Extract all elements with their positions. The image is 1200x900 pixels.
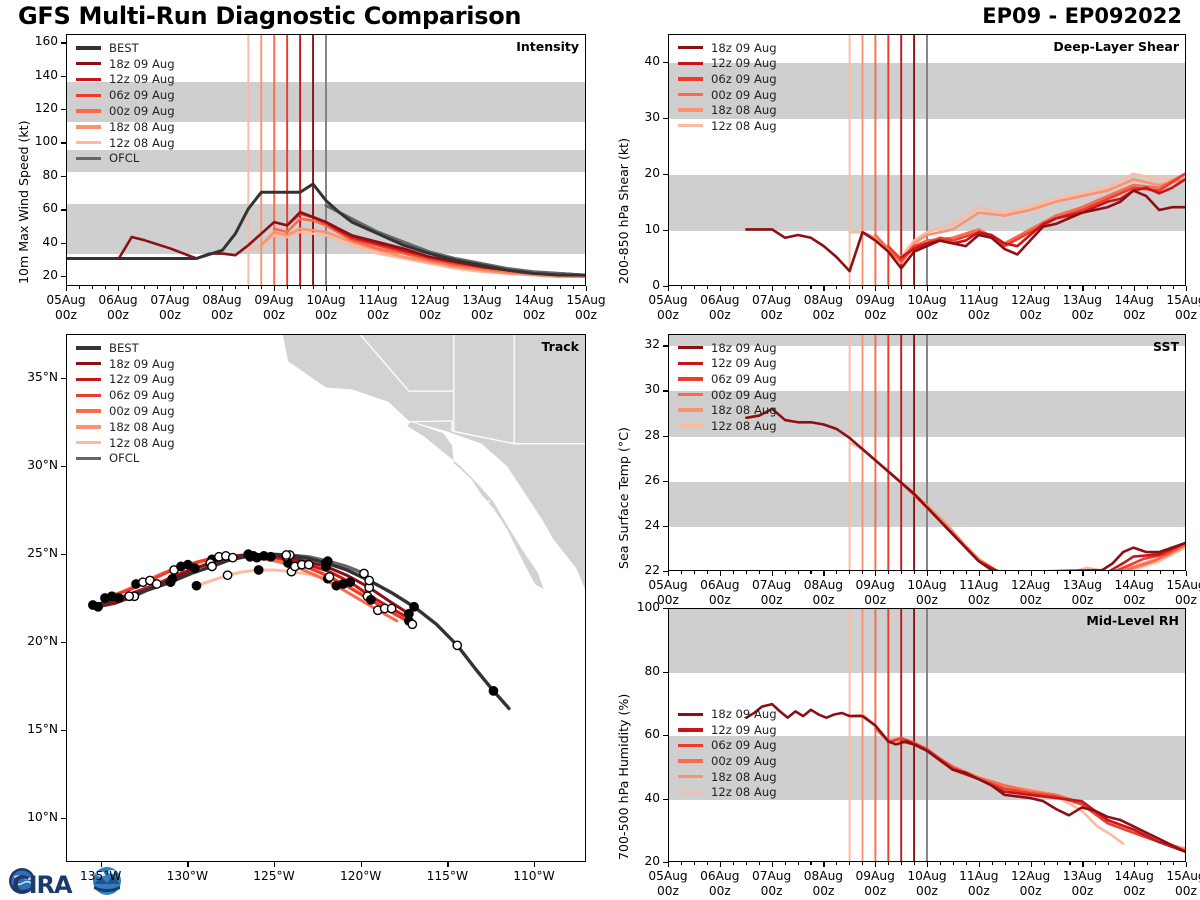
x-tick-mark: [927, 571, 928, 576]
x-tick-minor: [940, 571, 941, 574]
y-tick-label: 25°N: [8, 546, 58, 560]
svg-text:CIRA: CIRA: [12, 871, 73, 898]
legend-item-run_18z08[interactable]: 18z 08 Aug: [678, 769, 777, 785]
x-tick-minor: [798, 286, 799, 289]
legend-swatch-icon: [678, 46, 703, 49]
x-tick-minor: [849, 571, 850, 574]
y-tick-label: 20: [14, 268, 58, 282]
y-tick-mark: [663, 174, 668, 175]
x-tick-mark: [170, 286, 171, 291]
x-tick-minor: [1005, 286, 1006, 289]
legend-item-run_00z09[interactable]: 00z 09 Aug: [76, 403, 175, 419]
x-tick-minor: [901, 286, 902, 289]
x-tick-minor: [261, 286, 262, 289]
legend-item-best[interactable]: BEST: [76, 40, 175, 56]
intensity-legend: BEST18z 09 Aug12z 09 Aug06z 09 Aug00z 09…: [76, 40, 175, 166]
legend-swatch-icon: [76, 141, 101, 144]
track-marker-00z: [367, 596, 375, 604]
legend-item-label: 18z 09 Aug: [711, 707, 777, 721]
x-tick-minor: [681, 286, 682, 289]
x-tick-mark: [361, 862, 362, 867]
x-tick-hour: 00z: [1151, 593, 1200, 608]
legend-item-label: OFCL: [109, 451, 139, 465]
legend-item-run_18z09[interactable]: 18z 09 Aug: [76, 356, 175, 372]
x-tick-minor: [888, 286, 889, 289]
x-tick-minor: [966, 286, 967, 289]
y-tick-label: 15°N: [8, 722, 58, 736]
x-tick-minor: [940, 286, 941, 289]
x-tick-minor: [1005, 862, 1006, 865]
legend-swatch-icon: [76, 46, 101, 49]
legend-item-run_18z09[interactable]: 18z 09 Aug: [76, 56, 175, 72]
legend-item-run_06z09[interactable]: 06z 09 Aug: [678, 71, 777, 87]
legend-item-run_12z09[interactable]: 12z 09 Aug: [76, 372, 175, 388]
y-tick-label: 32: [616, 337, 660, 351]
x-tick-minor: [209, 286, 210, 289]
legend-item-label: 06z 09 Aug: [711, 738, 777, 752]
rh-legend: 18z 09 Aug12z 09 Aug06z 09 Aug00z 09 Aug…: [678, 706, 777, 800]
legend-swatch-icon: [76, 457, 101, 460]
y-tick-label: 100: [14, 134, 58, 148]
legend-item-run_12z08[interactable]: 12z 08 Aug: [678, 418, 777, 434]
legend-swatch-icon: [76, 378, 101, 381]
legend-item-run_06z09[interactable]: 06z 09 Aug: [76, 387, 175, 403]
x-tick-date: 15Aug: [1151, 293, 1200, 308]
x-tick-minor: [1160, 571, 1161, 574]
x-tick-date: 15Aug: [551, 293, 621, 308]
x-tick-minor: [759, 571, 760, 574]
y-tick-mark: [663, 799, 668, 800]
legend-item-label: 18z 09 Aug: [711, 341, 777, 355]
y-tick-mark: [663, 672, 668, 673]
x-tick-minor: [862, 571, 863, 574]
legend-item-label: 00z 09 Aug: [711, 754, 777, 768]
legend-item-run_12z08[interactable]: 12z 08 Aug: [76, 435, 175, 451]
x-tick-minor: [1095, 571, 1096, 574]
legend-swatch-icon: [678, 759, 703, 762]
legend-swatch-icon: [678, 728, 703, 731]
x-tick-mark: [668, 286, 669, 291]
y-tick-mark: [61, 730, 66, 731]
series-line-18z-09-aug: [746, 704, 1185, 851]
series-line-00z-09-aug: [274, 219, 585, 277]
legend-item-run_00z09[interactable]: 00z 09 Aug: [678, 87, 777, 103]
panel-rh[interactable]: Mid-Level RH 18z 09 Aug12z 09 Aug06z 09 …: [668, 608, 1186, 862]
track-marker-12z: [453, 641, 461, 649]
x-tick-minor: [681, 862, 682, 865]
y-tick-mark: [61, 466, 66, 467]
x-tick-minor: [352, 286, 353, 289]
y-tick-mark: [61, 76, 66, 77]
legend-item-run_06z09[interactable]: 06z 09 Aug: [678, 738, 777, 754]
legend-item-run_12z09[interactable]: 12z 09 Aug: [76, 72, 175, 88]
shear-legend: 18z 09 Aug12z 09 Aug06z 09 Aug00z 09 Aug…: [678, 40, 777, 134]
x-tick-minor: [1173, 286, 1174, 289]
x-tick-minor: [508, 286, 509, 289]
track-marker-00z: [166, 578, 174, 586]
y-tick-label: 40: [616, 54, 660, 68]
panel-track[interactable]: Track BEST18z 09 Aug12z 09 Aug06z 09 Aug…: [66, 334, 586, 862]
track-marker-12z: [325, 573, 333, 581]
legend-item-label: 18z 09 Aug: [711, 41, 777, 55]
x-tick-minor: [914, 571, 915, 574]
x-tick-minor: [573, 286, 574, 289]
y-tick-label: 10°N: [8, 810, 58, 824]
x-tick-minor: [785, 571, 786, 574]
x-tick-minor: [836, 571, 837, 574]
x-tick-minor: [1108, 286, 1109, 289]
x-tick-minor: [707, 862, 708, 865]
track-title: Track: [542, 339, 579, 354]
legend-item-run_06z09[interactable]: 06z 09 Aug: [76, 87, 175, 103]
shear-title: Deep-Layer Shear: [1053, 39, 1179, 54]
x-tick-minor: [694, 286, 695, 289]
series-line-18z-08-aug: [863, 449, 1186, 570]
legend-swatch-icon: [678, 408, 703, 411]
x-tick-minor: [1147, 571, 1148, 574]
series-line-18z-09-aug: [746, 191, 1185, 272]
x-tick-minor: [733, 571, 734, 574]
track-marker-00z: [267, 553, 275, 561]
x-tick-minor: [992, 862, 993, 865]
track-marker-00z: [489, 687, 497, 695]
y-tick-mark: [61, 209, 66, 210]
x-tick-mark: [979, 571, 980, 576]
x-tick-mark: [1082, 571, 1083, 576]
track-marker-00z: [322, 559, 330, 567]
y-tick-label: 20°N: [8, 634, 58, 648]
track-marker-12z: [305, 561, 313, 569]
x-tick-label: 125°W: [239, 869, 309, 884]
x-tick-minor: [914, 286, 915, 289]
x-tick-minor: [391, 286, 392, 289]
x-tick-minor: [248, 286, 249, 289]
y-tick-mark: [61, 642, 66, 643]
legend-item-run_18z08[interactable]: 18z 08 Aug: [678, 102, 777, 118]
y-tick-mark: [663, 230, 668, 231]
x-tick-mark: [534, 286, 535, 291]
legend-item-label: 12z 08 Aug: [109, 436, 175, 450]
legend-item-run_12z08[interactable]: 12z 08 Aug: [678, 118, 777, 134]
y-tick-label: 10: [616, 222, 660, 236]
y-tick-label: 20: [616, 854, 660, 868]
x-tick-minor: [888, 571, 889, 574]
x-tick-minor: [365, 286, 366, 289]
track-marker-12z: [408, 620, 416, 628]
x-tick-mark: [1186, 286, 1187, 291]
legend-swatch-icon: [678, 108, 703, 111]
x-tick-mark: [875, 862, 876, 867]
legend-swatch-icon: [76, 346, 101, 349]
y-tick-mark: [663, 608, 668, 609]
x-tick-minor: [443, 286, 444, 289]
legend-swatch-icon: [678, 93, 703, 96]
x-tick-minor: [1147, 862, 1148, 865]
sst-ylabel: Sea Surface Temp (°C): [616, 427, 631, 569]
x-tick-mark: [1031, 286, 1032, 291]
x-tick-mark: [668, 862, 669, 867]
legend-item-label: 12z 08 Aug: [711, 119, 777, 133]
legend-item-run_00z09[interactable]: 00z 09 Aug: [678, 753, 777, 769]
legend-item-run_12z09[interactable]: 12z 09 Aug: [678, 56, 777, 72]
x-tick-minor: [1095, 286, 1096, 289]
y-tick-label: 140: [14, 68, 58, 82]
x-tick-minor: [1173, 571, 1174, 574]
y-tick-label: 160: [14, 34, 58, 48]
y-tick-label: 100: [616, 600, 660, 614]
legend-item-run_18z08[interactable]: 18z 08 Aug: [76, 119, 175, 135]
y-tick-label: 35°N: [8, 370, 58, 384]
x-tick-minor: [1057, 286, 1058, 289]
x-tick-mark: [720, 571, 721, 576]
x-tick-date: 15Aug: [1151, 578, 1200, 593]
track-marker-00z: [192, 582, 200, 590]
legend-item-label: 12z 09 Aug: [711, 356, 777, 370]
x-tick-mark: [378, 286, 379, 291]
legend-item-label: BEST: [109, 341, 139, 355]
legend-item-label: 18z 08 Aug: [711, 103, 777, 117]
x-tick-minor: [746, 286, 747, 289]
y-tick-mark: [663, 390, 668, 391]
x-tick-minor: [79, 286, 80, 289]
x-tick-minor: [1044, 571, 1045, 574]
panel-intensity[interactable]: Intensity BEST18z 09 Aug12z 09 Aug06z 09…: [66, 34, 586, 286]
x-tick-label: 15Aug00z: [1151, 578, 1200, 608]
x-tick-label: 110°W: [499, 869, 569, 884]
x-tick-minor: [759, 862, 760, 865]
x-tick-minor: [1121, 286, 1122, 289]
x-tick-minor: [1069, 862, 1070, 865]
legend-item-run_12z08[interactable]: 12z 08 Aug: [678, 784, 777, 800]
x-tick-minor: [810, 862, 811, 865]
x-tick-minor: [992, 286, 993, 289]
x-tick-minor: [469, 286, 470, 289]
x-tick-minor: [901, 571, 902, 574]
x-tick-minor: [313, 286, 314, 289]
x-tick-mark: [1134, 862, 1135, 867]
y-tick-label: 0: [616, 278, 660, 292]
x-tick-label: 15Aug00z: [1151, 869, 1200, 899]
legend-item-run_12z09[interactable]: 12z 09 Aug: [678, 356, 777, 372]
y-tick-label: 60: [616, 727, 660, 741]
x-tick-mark: [66, 286, 67, 291]
x-tick-mark: [979, 286, 980, 291]
legend-item-label: 12z 09 Aug: [711, 56, 777, 70]
x-tick-minor: [1044, 286, 1045, 289]
x-tick-label: 115°W: [412, 869, 482, 884]
legend-swatch-icon: [678, 377, 703, 380]
y-tick-label: 40: [14, 235, 58, 249]
y-tick-mark: [663, 345, 668, 346]
x-tick-minor: [1057, 862, 1058, 865]
x-tick-minor: [456, 286, 457, 289]
legend-swatch-icon: [678, 744, 703, 747]
x-tick-mark: [720, 862, 721, 867]
legend-item-run_12z08[interactable]: 12z 08 Aug: [76, 135, 175, 151]
x-tick-minor: [183, 286, 184, 289]
series-line-12z-09-aug: [901, 179, 1185, 257]
x-tick-minor: [417, 286, 418, 289]
x-tick-minor: [1108, 862, 1109, 865]
legend-swatch-icon: [678, 775, 703, 778]
y-tick-mark: [663, 62, 668, 63]
x-tick-minor: [1005, 571, 1006, 574]
x-tick-minor: [849, 286, 850, 289]
sst-title: SST: [1153, 339, 1179, 354]
x-tick-label: 15Aug00z: [551, 293, 621, 323]
track-legend: BEST18z 09 Aug12z 09 Aug06z 09 Aug00z 09…: [76, 340, 175, 466]
x-tick-mark: [1031, 862, 1032, 867]
legend-item-label: 12z 09 Aug: [109, 372, 175, 386]
legend-item-label: 18z 08 Aug: [711, 403, 777, 417]
x-tick-mark: [1134, 286, 1135, 291]
x-tick-minor: [404, 286, 405, 289]
legend-item-label: 12z 09 Aug: [109, 72, 175, 86]
track-marker-00z: [246, 552, 254, 560]
legend-swatch-icon: [76, 409, 101, 412]
x-tick-minor: [810, 571, 811, 574]
legend-item-ofcl[interactable]: OFCL: [76, 151, 175, 167]
legend-item-best[interactable]: BEST: [76, 340, 175, 356]
y-tick-label: 30: [616, 110, 660, 124]
x-tick-label: 15Aug00z: [1151, 293, 1200, 323]
y-tick-mark: [61, 142, 66, 143]
map-landmass: [283, 335, 585, 589]
panel-shear[interactable]: Deep-Layer Shear 18z 09 Aug12z 09 Aug06z…: [668, 34, 1186, 286]
y-tick-label: 26: [616, 473, 660, 487]
y-tick-mark: [663, 436, 668, 437]
track-marker-00z: [191, 564, 199, 572]
x-tick-mark: [326, 286, 327, 291]
y-tick-mark: [663, 526, 668, 527]
x-tick-minor: [521, 286, 522, 289]
y-tick-mark: [61, 818, 66, 819]
x-tick-minor: [746, 862, 747, 865]
x-tick-minor: [1108, 571, 1109, 574]
legend-swatch-icon: [678, 362, 703, 365]
x-tick-minor: [953, 862, 954, 865]
y-tick-mark: [61, 276, 66, 277]
x-tick-minor: [105, 286, 106, 289]
x-tick-minor: [759, 286, 760, 289]
x-tick-minor: [785, 862, 786, 865]
x-tick-mark: [1082, 862, 1083, 867]
x-tick-mark: [875, 571, 876, 576]
x-tick-minor: [901, 862, 902, 865]
x-tick-minor: [992, 571, 993, 574]
legend-swatch-icon: [678, 124, 703, 127]
x-tick-minor: [836, 286, 837, 289]
x-tick-minor: [1095, 862, 1096, 865]
x-tick-mark: [118, 286, 119, 291]
legend-item-run_18z09[interactable]: 18z 09 Aug: [678, 40, 777, 56]
x-tick-minor: [1057, 571, 1058, 574]
legend-item-run_18z08[interactable]: 18z 08 Aug: [678, 402, 777, 418]
x-tick-minor: [1044, 862, 1045, 865]
legend-swatch-icon: [76, 125, 101, 128]
x-tick-minor: [287, 286, 288, 289]
x-tick-minor: [785, 286, 786, 289]
legend-swatch-icon: [76, 362, 101, 365]
legend-item-run_06z09[interactable]: 06z 09 Aug: [678, 371, 777, 387]
legend-swatch-icon: [76, 441, 101, 444]
legend-swatch-icon: [76, 394, 101, 397]
x-tick-minor: [131, 286, 132, 289]
y-tick-mark: [61, 109, 66, 110]
legend-item-run_12z09[interactable]: 12z 09 Aug: [678, 722, 777, 738]
x-tick-mark: [586, 286, 587, 291]
y-tick-mark: [663, 735, 668, 736]
x-tick-minor: [798, 571, 799, 574]
x-tick-minor: [810, 286, 811, 289]
legend-item-run_18z09[interactable]: 18z 09 Aug: [678, 340, 777, 356]
y-tick-mark: [61, 42, 66, 43]
legend-swatch-icon: [76, 109, 101, 112]
legend-item-label: 06z 09 Aug: [711, 72, 777, 86]
x-tick-minor: [1160, 862, 1161, 865]
legend-item-label: 12z 08 Aug: [711, 419, 777, 433]
x-tick-minor: [966, 571, 967, 574]
x-tick-minor: [157, 286, 158, 289]
panel-sst[interactable]: SST 18z 09 Aug12z 09 Aug06z 09 Aug00z 09…: [668, 334, 1186, 571]
x-tick-mark: [222, 286, 223, 291]
y-tick-label: 80: [14, 168, 58, 182]
intensity-title: Intensity: [516, 39, 579, 54]
x-tick-mark: [430, 286, 431, 291]
y-tick-mark: [61, 243, 66, 244]
x-tick-mark: [482, 286, 483, 291]
track-marker-00z: [410, 603, 418, 611]
legend-item-label: 00z 09 Aug: [711, 388, 777, 402]
x-tick-minor: [966, 862, 967, 865]
x-tick-mark: [772, 862, 773, 867]
track-marker-12z: [223, 571, 231, 579]
x-tick-minor: [681, 571, 682, 574]
y-tick-label: 60: [14, 201, 58, 215]
x-tick-mark: [101, 862, 102, 867]
legend-item-run_00z09[interactable]: 00z 09 Aug: [678, 387, 777, 403]
track-marker-00z: [89, 601, 97, 609]
x-tick-minor: [1069, 286, 1070, 289]
y-tick-mark: [61, 176, 66, 177]
x-tick-mark: [1134, 571, 1135, 576]
x-tick-minor: [707, 286, 708, 289]
legend-item-label: 12z 09 Aug: [711, 723, 777, 737]
y-tick-label: 20: [616, 166, 660, 180]
legend-item-label: 06z 09 Aug: [711, 372, 777, 386]
x-tick-mark: [772, 571, 773, 576]
x-tick-minor: [836, 862, 837, 865]
x-tick-mark: [979, 862, 980, 867]
legend-item-run_18z08[interactable]: 18z 08 Aug: [76, 419, 175, 435]
x-tick-minor: [798, 862, 799, 865]
legend-item-ofcl[interactable]: OFCL: [76, 451, 175, 467]
track-marker-12z: [282, 551, 290, 559]
x-tick-label: 130°W: [152, 869, 222, 884]
x-tick-mark: [823, 286, 824, 291]
legend-item-label: 18z 08 Aug: [109, 120, 175, 134]
legend-item-label: 12z 08 Aug: [711, 785, 777, 799]
y-tick-label: 22: [616, 563, 660, 577]
legend-item-run_18z09[interactable]: 18z 09 Aug: [678, 706, 777, 722]
legend-item-run_00z09[interactable]: 00z 09 Aug: [76, 103, 175, 119]
legend-item-label: 00z 09 Aug: [109, 404, 175, 418]
x-tick-minor: [953, 571, 954, 574]
x-tick-minor: [707, 571, 708, 574]
legend-swatch-icon: [76, 425, 101, 428]
track-marker-12z: [229, 553, 237, 561]
x-tick-minor: [1160, 286, 1161, 289]
